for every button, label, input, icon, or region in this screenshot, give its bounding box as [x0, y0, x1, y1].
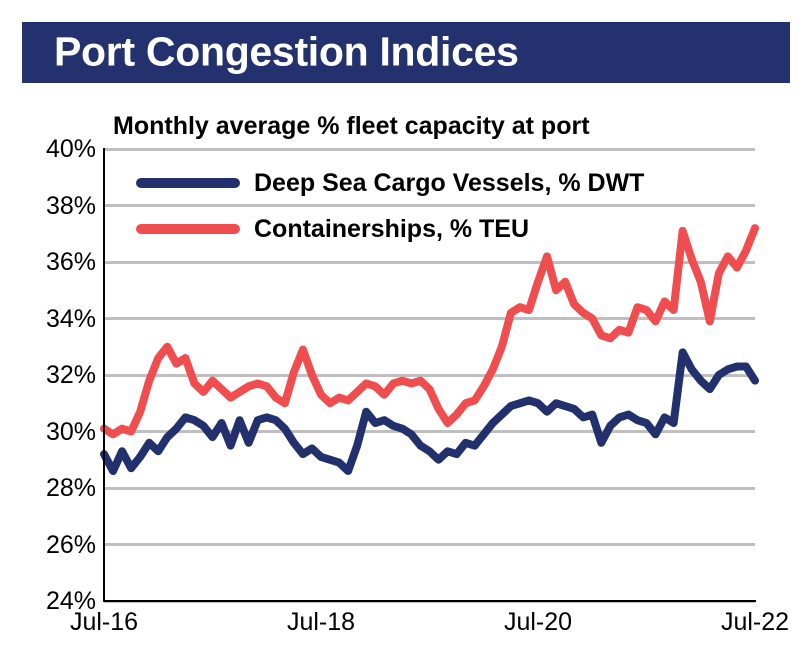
x-axis-tick-label: Jul-20 — [504, 610, 572, 635]
chart-page: Port Congestion Indices Monthly average … — [0, 0, 811, 671]
y-axis-tick-label: 40% — [12, 137, 96, 162]
y-axis-line — [103, 148, 105, 602]
series-line — [104, 228, 755, 434]
legend-item-containerships: Containerships, % TEU — [136, 206, 736, 252]
chart-subtitle: Monthly average % fleet capacity at port — [113, 114, 590, 139]
chart-container: Monthly average % fleet capacity at port… — [0, 0, 811, 671]
y-axis-tick-label: 32% — [12, 363, 96, 388]
chart-legend: Deep Sea Cargo Vessels, % DWT Containers… — [136, 160, 736, 252]
line-swatch-icon — [136, 178, 240, 188]
x-axis-line — [103, 600, 756, 602]
x-axis-tick-label: Jul-16 — [70, 610, 138, 635]
y-axis-tick-label: 34% — [12, 307, 96, 332]
x-axis-tick-label: Jul-18 — [287, 610, 355, 635]
x-axis-tick-label: Jul-22 — [721, 610, 789, 635]
series-line — [104, 352, 755, 471]
legend-label: Containerships, % TEU — [254, 217, 529, 242]
line-swatch-icon — [136, 224, 240, 234]
y-axis-tick-label: 38% — [12, 194, 96, 219]
y-axis-tick-label: 26% — [12, 533, 96, 558]
y-axis-tick-label: 30% — [12, 420, 96, 445]
legend-label: Deep Sea Cargo Vessels, % DWT — [254, 171, 644, 196]
y-axis-tick-label: 36% — [12, 250, 96, 275]
legend-item-deep-sea-cargo-vessels: Deep Sea Cargo Vessels, % DWT — [136, 160, 736, 206]
y-axis-tick-label: 28% — [12, 476, 96, 501]
y-axis-labels: 24%26%28%30%32%34%36%38%40% — [0, 0, 96, 671]
